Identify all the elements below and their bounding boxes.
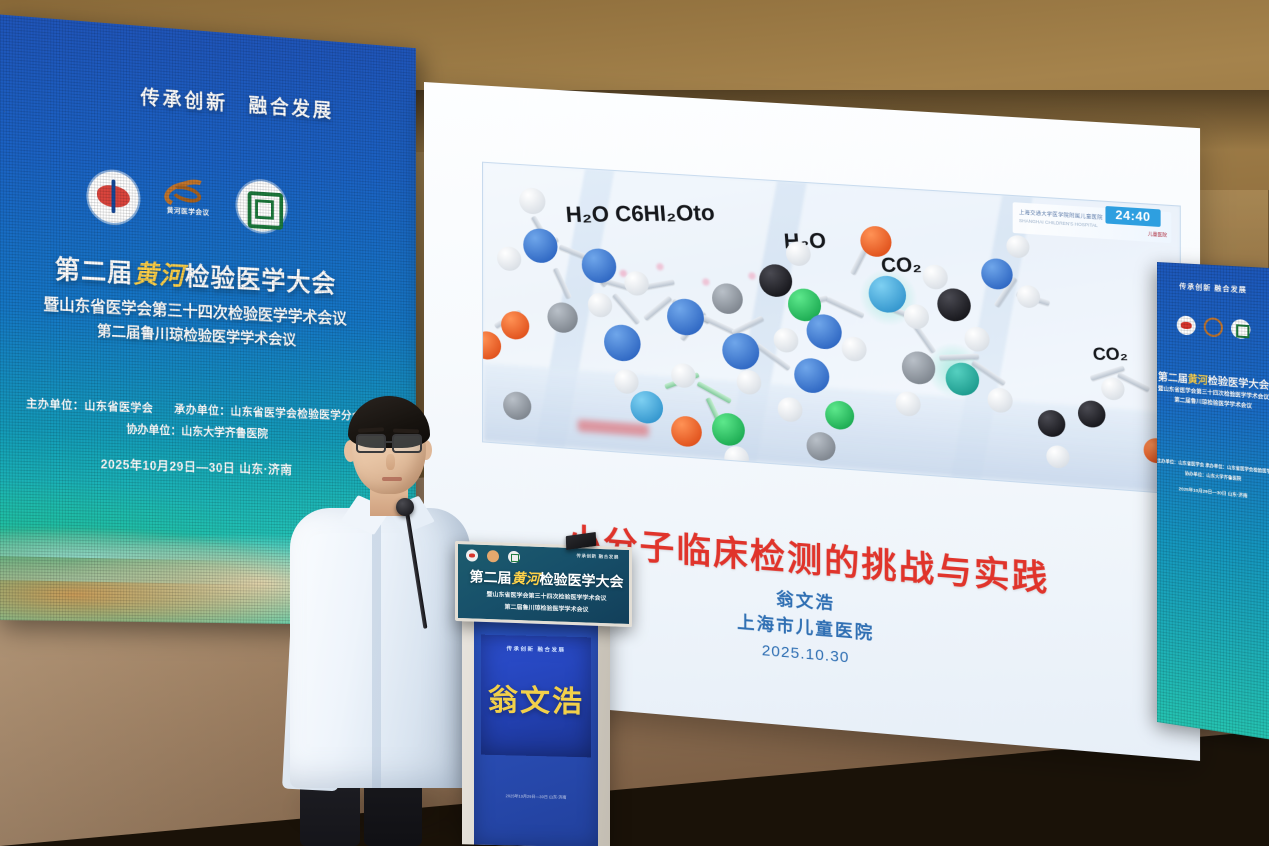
- speaker-shirt-placket: [372, 516, 381, 788]
- microphone-icon: [396, 498, 414, 516]
- yellow-river-conference-logo: 黄河医学会议: [160, 178, 217, 227]
- formula-label-1: H₂O C6HI₂Oto: [565, 200, 716, 228]
- banner-date-location: 2025年10月29日—30日 山东·济南: [0, 450, 392, 481]
- speaker-glasses-right-lens: [392, 434, 422, 453]
- banner-title-part2: 检验医学大会: [185, 261, 336, 298]
- atom-hydrogen: [1017, 285, 1040, 309]
- speaker-glasses-left-lens: [356, 434, 386, 453]
- side-conference-banner: 传承创新 融合发展 第二届黄河检验医学大会 暨山东省医学会第三十四次检验医学学术…: [1157, 262, 1269, 739]
- banner-title-block: 第二届黄河检验医学大会 暨山东省医学会第三十四次检验医学学术会议 第二届鲁川琼检…: [0, 246, 392, 354]
- speaker-eyebrow-right: [393, 429, 419, 434]
- banner-organizer-block: 主办单位：山东省医学会承办单位：山东省医学会检验医学分会 协办单位：山东大学齐鲁…: [0, 394, 392, 481]
- podium-sign-title-highlight: 黄河: [512, 570, 540, 587]
- yellow-river-logo-label: 黄河医学会议: [160, 205, 217, 218]
- podium-name-display: 传承创新 融合发展 翁文浩: [481, 635, 591, 758]
- yellow-river-conference-logo: [1203, 317, 1222, 338]
- conference-photo-scene: 传承创新融合发展 黄河医学会议 第二届黄河检验医学大会 暨山东省医学会第三十四次…: [0, 0, 1269, 846]
- banner-slogan-left: 传承创新: [140, 87, 227, 115]
- speaker-glasses-bridge: [386, 441, 393, 443]
- podium-sign-slogan: 传承创新 融合发展: [576, 553, 619, 560]
- side-banner-title-highlight: 黄河: [1188, 374, 1208, 387]
- side-banner-slogan: 传承创新 融合发展: [1157, 280, 1269, 297]
- banner-organizer-host: 主办单位：山东省医学会: [26, 398, 153, 415]
- podium-screen-slogan: 传承创新 融合发展: [481, 644, 591, 655]
- shandong-medical-association-logo: [1176, 315, 1195, 335]
- qilu-hospital-logo: [1231, 319, 1250, 340]
- shandong-medical-association-logo: [466, 549, 478, 561]
- side-banner-logos: [1157, 314, 1269, 341]
- speaker-mouth: [382, 477, 402, 481]
- shandong-medical-association-logo: [88, 170, 138, 224]
- podium-sign-subtitle-2: 第二届鲁川琼检验医学学术会议: [458, 600, 632, 615]
- atom-hydrogen: [1006, 235, 1029, 259]
- monitor-mark: 儿童医院: [1148, 231, 1167, 238]
- molecule-image-panel: 上海交通大学医学院附属儿童医院 SHANGHAI CHILDREN'S HOSP…: [482, 162, 1181, 495]
- banner-slogan-right: 融合发展: [249, 95, 334, 122]
- podium-sign-title-part1: 第二届: [470, 568, 512, 585]
- podium-sign-title-part2: 检验医学大会: [540, 571, 624, 590]
- podium-screen-speaker-name: 翁文浩: [481, 675, 591, 722]
- banner-title-highlight: 黄河: [133, 259, 185, 291]
- banner-slogan: 传承创新融合发展: [140, 81, 401, 128]
- speaker-nose: [386, 454, 395, 470]
- side-banner-org-3: 2025年10月29日—30日 山东·济南: [1157, 484, 1269, 502]
- podium-header-sign: 传承创新 融合发展 第二届黄河检验医学大会 暨山东省医学会第三十四次检验医学学术…: [455, 541, 632, 627]
- timer-display: 24:40: [1105, 206, 1160, 227]
- banner-organizer-undertaker: 承办单位：山东省医学会检验医学分会: [174, 404, 363, 423]
- formula-label-4: CO₂: [1092, 344, 1129, 365]
- banner-title-part1: 第二届: [55, 254, 134, 288]
- podium-face-footer: 2025年10月29日—30日 山东·济南: [474, 792, 598, 801]
- podium-sign-logos: [466, 549, 520, 563]
- yellow-river-conference-logo: [487, 550, 499, 562]
- qilu-hospital-logo: [508, 551, 520, 563]
- banner-logo-row: 黄河医学会议: [88, 170, 324, 235]
- qilu-hospital-logo: [237, 180, 286, 233]
